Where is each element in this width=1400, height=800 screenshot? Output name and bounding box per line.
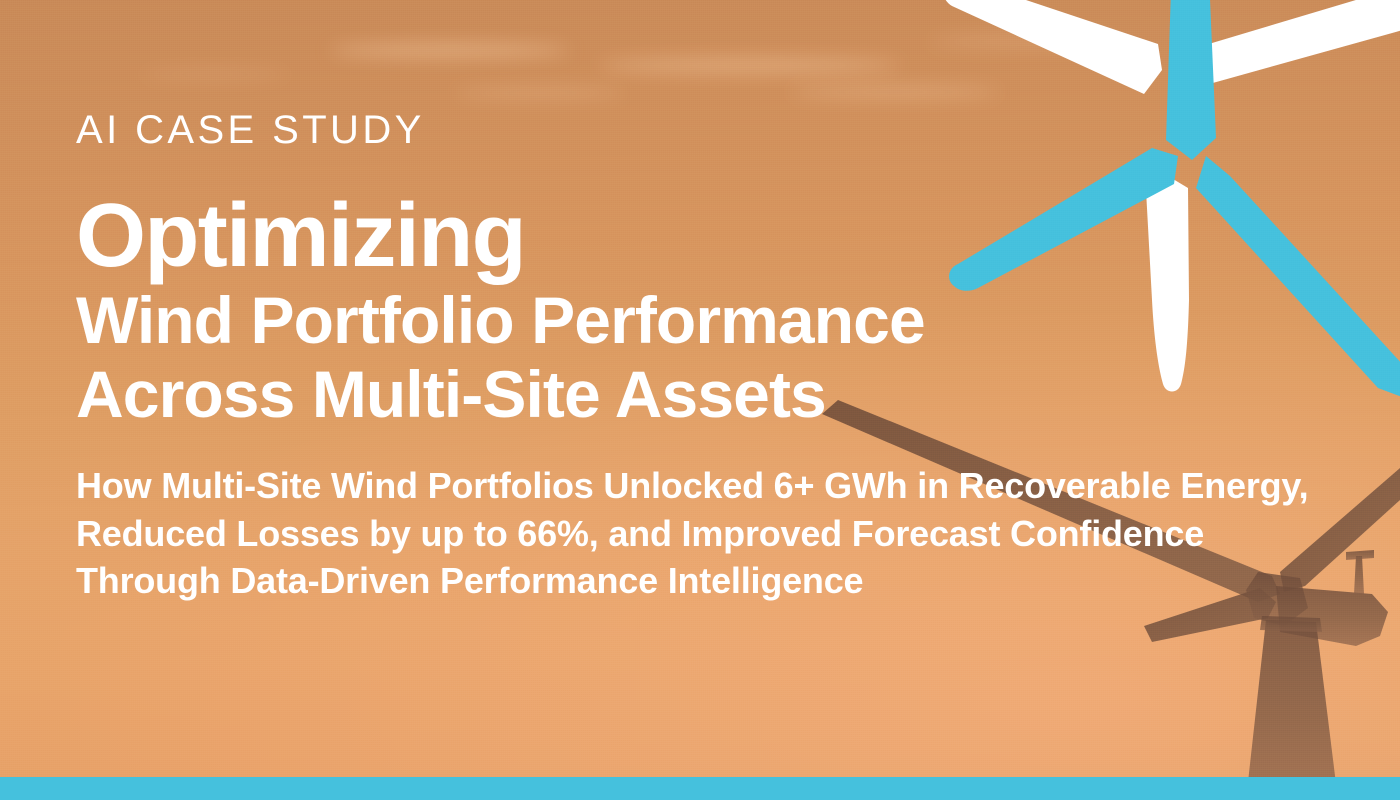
cloud-wisp <box>600 58 900 73</box>
cloud-wisp <box>455 88 625 98</box>
title-line-1: Optimizing <box>76 192 1316 280</box>
banner-content: AI CASE STUDY Optimizing Wind Portfolio … <box>76 110 1316 605</box>
subtitle-text: How Multi-Site Wind Portfolios Unlocked … <box>76 462 1316 605</box>
bottom-accent-bar <box>0 777 1400 800</box>
eyebrow-label: AI CASE STUDY <box>76 110 1316 150</box>
cloud-wisp <box>140 70 290 79</box>
title-line-2: Wind Portfolio Performance <box>76 284 1316 358</box>
cloud-wisp <box>330 44 570 57</box>
title-line-3: Across Multi-Site Assets <box>76 358 1316 432</box>
page-title: Optimizing Wind Portfolio Performance Ac… <box>76 192 1316 432</box>
case-study-banner: AI CASE STUDY Optimizing Wind Portfolio … <box>0 0 1400 800</box>
